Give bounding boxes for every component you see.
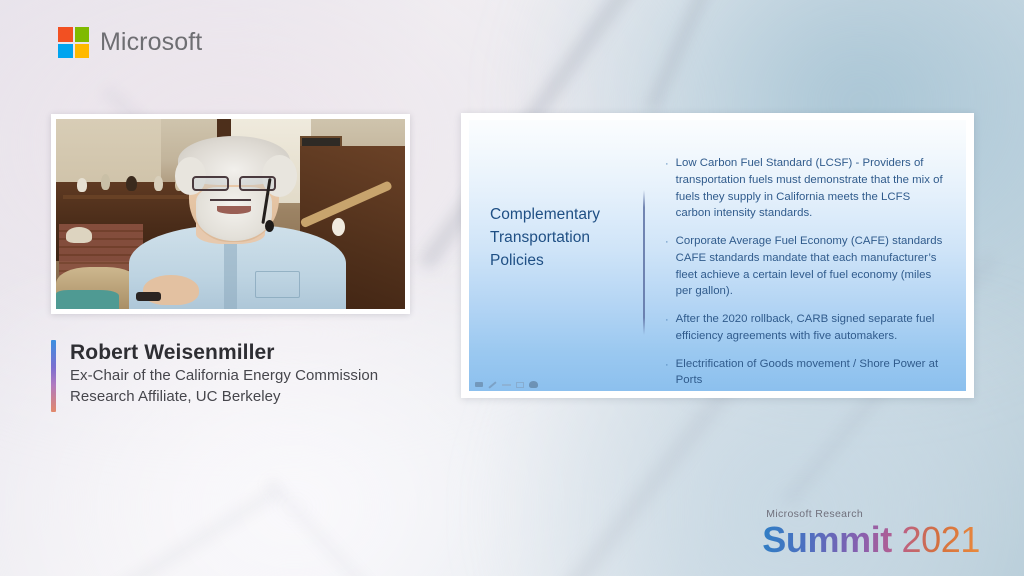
room-trinket [101, 174, 110, 190]
speaker-video-tile[interactable] [51, 114, 410, 314]
room-trinket [154, 176, 163, 191]
room-trinket [77, 178, 87, 192]
bullet-text: Electrification of Goods movement / Shor… [676, 356, 948, 390]
glasses-lens-left [192, 176, 229, 191]
slide-title: Complementary Transportation Policies [490, 204, 640, 273]
logo-square-yellow [75, 44, 90, 59]
speaker-glasses [192, 176, 276, 191]
slide-bullet-item: · Low Carbon Fuel Standard (LCSF) - Prov… [665, 155, 948, 222]
presentation-slide-frame[interactable]: Complementary Transportation Policies · … [461, 113, 974, 398]
bullet-marker-icon: · [665, 311, 669, 345]
speaker-wristwatch [136, 292, 160, 302]
toolbar-pen-icon[interactable] [488, 381, 496, 388]
caption-accent-bar [51, 340, 56, 412]
slide-divider-line [643, 190, 645, 335]
speaker-name: Robert Weisenmiller [70, 340, 378, 366]
slide-bullet-item: · Electrification of Goods movement / Sh… [665, 356, 948, 390]
bullet-text: Corporate Average Fuel Economy (CAFE) st… [676, 233, 948, 300]
room-trinket [66, 227, 92, 243]
bullet-marker-icon: · [665, 233, 669, 300]
speaker-beard [196, 187, 273, 240]
toolbar-shape-icon[interactable] [516, 382, 524, 388]
toolbar-slide-icon[interactable] [475, 382, 483, 387]
speaker-video-feed [56, 119, 405, 309]
microsoft-logo: Microsoft [58, 27, 202, 58]
room-shelf [63, 195, 189, 199]
logo-square-blue [58, 44, 73, 59]
speaker-title-line-2: Research Affiliate, UC Berkeley [70, 387, 378, 408]
room-teal-object [56, 290, 119, 309]
caption-text-block: Robert Weisenmiller Ex-Chair of the Cali… [70, 340, 378, 412]
slide-bullet-item: · After the 2020 rollback, CARB signed s… [665, 311, 948, 345]
summit-wordmark: Summit 2021 [762, 521, 980, 558]
microsoft-logo-text: Microsoft [100, 28, 202, 57]
bullet-marker-icon: · [665, 155, 669, 222]
presentation-slide: Complementary Transportation Policies · … [469, 120, 966, 391]
microsoft-logo-icon [58, 27, 89, 58]
speaker-shirt-pocket [255, 271, 300, 298]
toolbar-line-icon[interactable] [502, 384, 511, 386]
speaker-caption: Robert Weisenmiller Ex-Chair of the Cali… [51, 340, 378, 412]
bullet-text: Low Carbon Fuel Standard (LCSF) - Provid… [676, 155, 948, 222]
glasses-bridge [210, 199, 252, 201]
bullet-text: After the 2020 rollback, CARB signed sep… [676, 311, 948, 345]
slide-presenter-toolbar[interactable] [475, 381, 538, 388]
slide-bullet-item: · Corporate Average Fuel Economy (CAFE) … [665, 233, 948, 300]
room-trinket [126, 176, 137, 191]
logo-square-green [75, 27, 90, 42]
logo-square-red [58, 27, 73, 42]
summit-logo: Microsoft Research Summit 2021 [762, 508, 980, 558]
summit-name: Summit [762, 519, 892, 560]
speaker-mouth [217, 206, 252, 214]
room-trinket [332, 218, 345, 236]
presentation-stage: Microsoft [0, 0, 1024, 576]
bullet-marker-icon: · [665, 356, 669, 390]
speaker-title-line-1: Ex-Chair of the California Energy Commis… [70, 366, 378, 387]
summit-year: 2021 [902, 519, 981, 560]
toolbar-pointer-icon[interactable] [529, 381, 538, 388]
slide-bullet-list: · Low Carbon Fuel Standard (LCSF) - Prov… [665, 155, 948, 391]
